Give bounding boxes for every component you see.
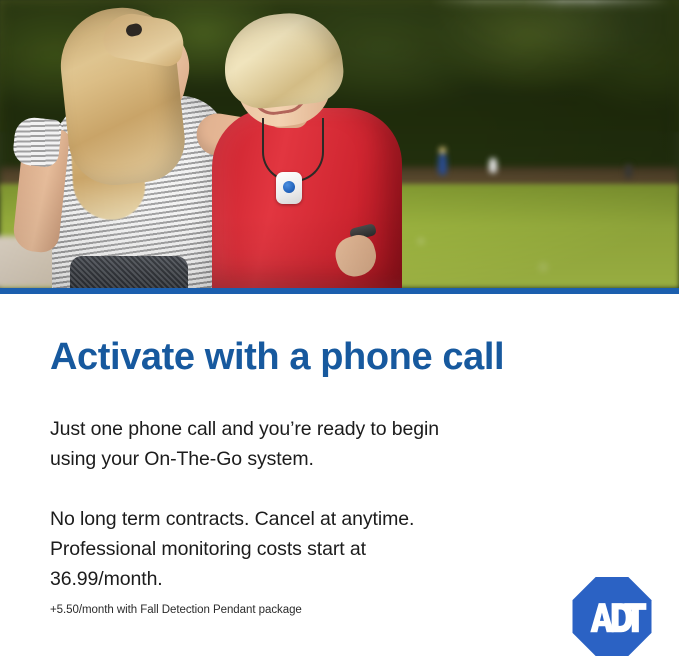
adt-logo xyxy=(572,577,652,656)
hero-scene xyxy=(0,0,679,288)
hero-photo xyxy=(0,0,679,288)
fineprint-disclaimer: +5.50/month with Fall Detection Pendant … xyxy=(50,594,629,618)
paragraph-pricing: No long term contracts. Cancel at anytim… xyxy=(50,474,432,594)
younger-woman-sleeve xyxy=(12,116,63,169)
younger-woman-pants xyxy=(70,256,188,288)
older-woman-hair xyxy=(220,8,347,112)
people-group xyxy=(0,0,679,288)
content-area: Activate with a phone call Just one phon… xyxy=(0,294,679,618)
page-title: Activate with a phone call xyxy=(50,294,629,378)
medical-alert-pendant-icon xyxy=(276,172,302,204)
paragraph-activation: Just one phone call and you’re ready to … xyxy=(50,378,440,474)
feature-card: Activate with a phone call Just one phon… xyxy=(0,0,679,662)
